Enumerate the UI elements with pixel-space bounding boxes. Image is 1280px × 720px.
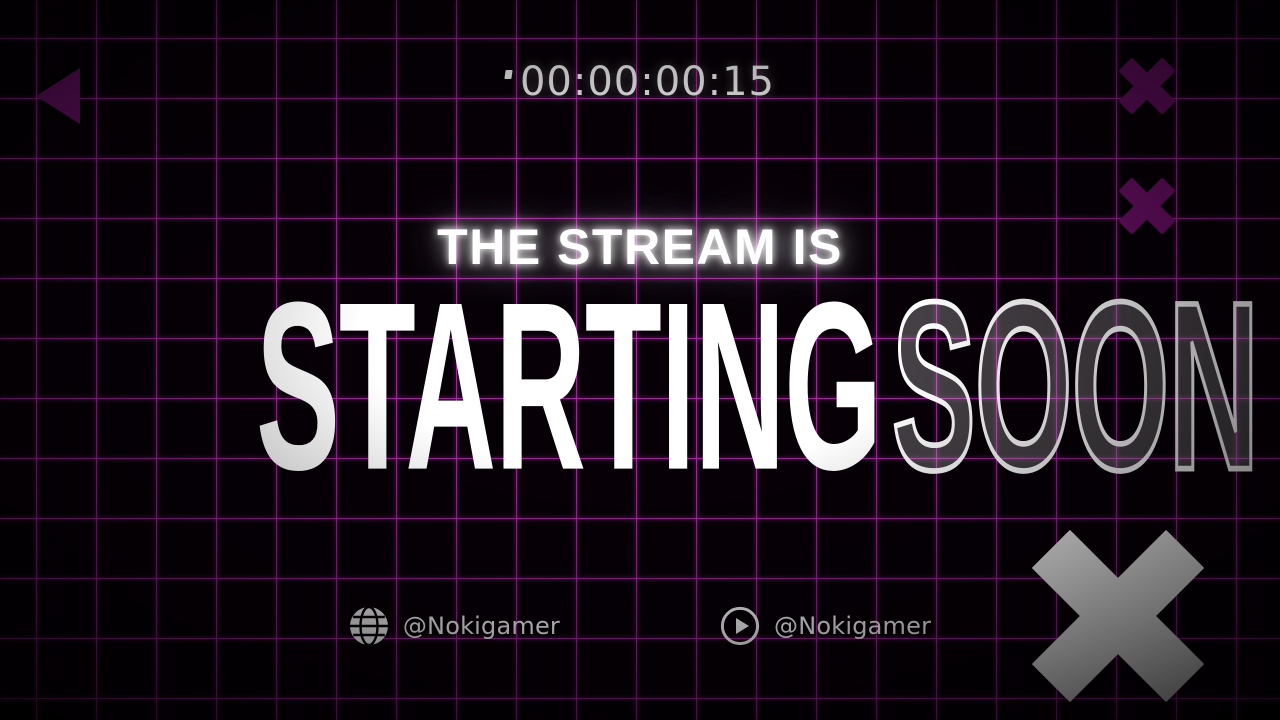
timer-tick-mark-icon [504, 70, 512, 79]
headline-block: THE STREAM IS STARTINGSOON [0, 222, 1280, 469]
stream-overlay-screen: 00:00:00:15 THE STREAM IS STARTINGSOON [0, 0, 1280, 720]
headline-word-starting: STARTING [256, 252, 881, 520]
social-item-video[interactable]: @Nokigamer [720, 606, 931, 646]
headline-word-soon: SOON [892, 252, 1258, 520]
social-handle-video: @Nokigamer [774, 612, 931, 640]
play-circle-icon [720, 606, 760, 646]
social-handle-website: @Nokigamer [403, 612, 560, 640]
globe-icon [349, 606, 389, 646]
social-links: @Nokigamer @Nokigamer [0, 606, 1280, 646]
social-item-website[interactable]: @Nokigamer [349, 606, 560, 646]
countdown-timer: 00:00:00:15 [0, 62, 1280, 102]
timer-value: 00:00:00:15 [520, 62, 775, 102]
headline-main: STARTINGSOON [256, 276, 1024, 496]
